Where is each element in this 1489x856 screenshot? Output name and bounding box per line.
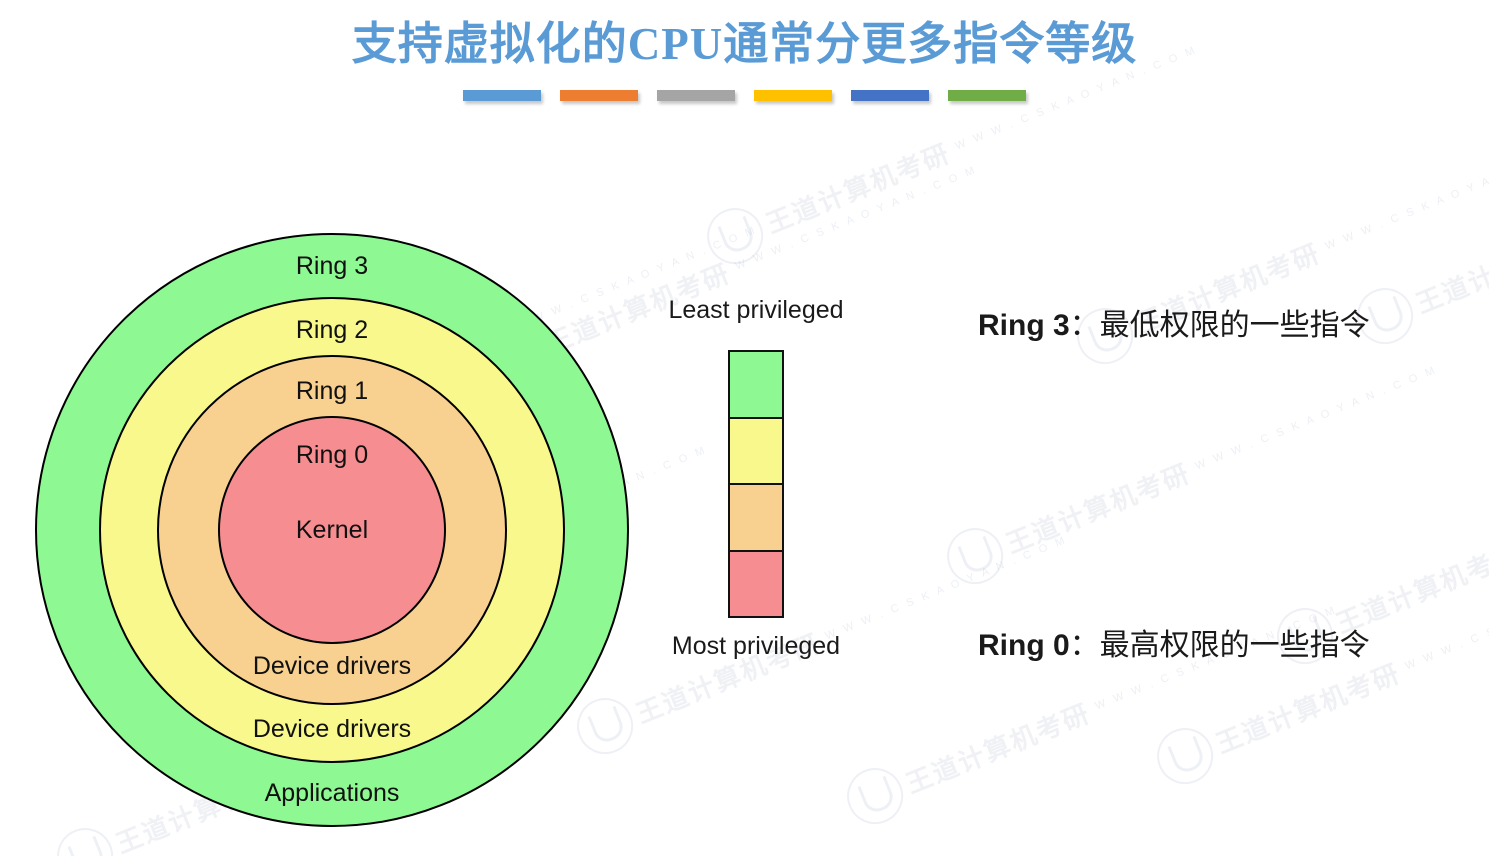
accent-bar-green bbox=[948, 90, 1026, 101]
watermark-logo-icon bbox=[1149, 720, 1222, 793]
watermark-12: 王道计算机考研W W W . C S K A O Y A N . C O M bbox=[1349, 103, 1489, 352]
watermark-logo-icon bbox=[699, 200, 772, 273]
legend-cell-most bbox=[730, 552, 782, 617]
privilege-rings-diagram: Ring 3ApplicationsRing 2Device driversRi… bbox=[35, 233, 629, 827]
accent-bar-orange bbox=[560, 90, 638, 101]
accent-bar-yellow bbox=[754, 90, 832, 101]
watermark-9: 王道计算机考研W W W . C S K A O Y A N . C O M bbox=[1149, 543, 1489, 792]
annotation-ring3-text: 最低权限的一些指令 bbox=[1100, 309, 1370, 342]
accent-bar-indigo bbox=[851, 90, 929, 101]
annotation-ring3: Ring 3：最低权限的一些指令 bbox=[978, 300, 1370, 344]
watermark-logo-icon bbox=[839, 760, 912, 833]
watermark-brand-text: 王道计算机考研 bbox=[1000, 453, 1196, 561]
ring-1-bottom-label: Device drivers bbox=[35, 652, 629, 681]
legend-least-privileged-label: Least privileged bbox=[668, 296, 843, 325]
ring-2-bottom-label: Device drivers bbox=[35, 715, 629, 744]
watermark-brand-text: 王道计算机考研 bbox=[760, 133, 956, 241]
watermark-brand-text: 王道计算机考研 bbox=[1210, 653, 1406, 761]
annotation-ring3-separator: ： bbox=[1070, 309, 1100, 342]
accent-bar-blue bbox=[463, 90, 541, 101]
annotation-ring0-separator: ： bbox=[1070, 629, 1100, 662]
legend-cell-ring1 bbox=[730, 485, 782, 552]
accent-bar-group bbox=[0, 90, 1489, 101]
watermark-url-text: W W W . C S K A O Y A N . C O M bbox=[1194, 364, 1440, 473]
title-block: 支持虚拟化的CPU通常分更多指令等级 bbox=[0, 12, 1489, 101]
privilege-legend: Least privileged Most privileged bbox=[638, 296, 874, 672]
legend-most-privileged-label: Most privileged bbox=[672, 632, 840, 661]
watermark-logo-icon bbox=[939, 520, 1012, 593]
slide-canvas: 王道计算机考研W W W . C S K A O Y A N . C O M王道… bbox=[0, 0, 1489, 856]
ring-0-top-label: Ring 0 bbox=[35, 441, 629, 470]
legend-color-bar bbox=[728, 350, 784, 618]
ring-2-top-label: Ring 2 bbox=[35, 316, 629, 345]
watermark-url-text: W W W . C S K A O Y A N . C O M bbox=[1404, 564, 1489, 673]
annotation-ring0: Ring 0：最高权限的一些指令 bbox=[978, 620, 1370, 664]
page-title: 支持虚拟化的CPU通常分更多指令等级 bbox=[0, 12, 1489, 76]
annotation-ring3-ring: Ring 3 bbox=[978, 309, 1070, 342]
ring-3-top-label: Ring 3 bbox=[35, 252, 629, 281]
ring-3-bottom-label: Applications bbox=[35, 779, 629, 808]
annotation-ring0-text: 最高权限的一些指令 bbox=[1100, 629, 1370, 662]
legend-cell-ring2 bbox=[730, 419, 782, 486]
annotation-ring0-ring: Ring 0 bbox=[978, 629, 1070, 662]
watermark-url-text: W W W . C S K A O Y A N . C O M bbox=[734, 164, 980, 273]
legend-cell-least bbox=[730, 352, 782, 419]
watermark-brand-text: 王道计算机考研 bbox=[900, 693, 1096, 801]
ring-0-bottom-label: Kernel bbox=[35, 516, 629, 545]
watermark-brand-text: 王道计算机考研 bbox=[1410, 213, 1489, 321]
ring-1-top-label: Ring 1 bbox=[35, 377, 629, 406]
accent-bar-gray bbox=[657, 90, 735, 101]
watermark-5: 王道计算机考研W W W . C S K A O Y A N . C O M bbox=[939, 343, 1448, 592]
watermark-url-text: W W W . C S K A O Y A N . C O M bbox=[1324, 144, 1489, 253]
